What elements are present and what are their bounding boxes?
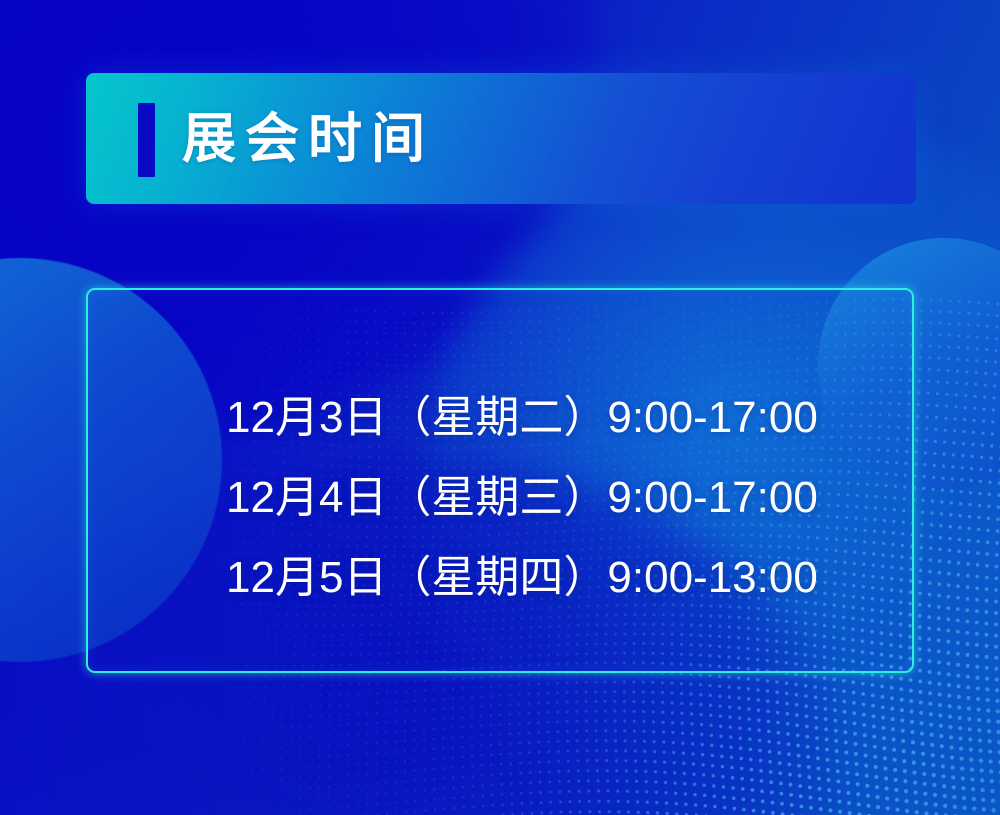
page-title: 展会时间: [182, 112, 434, 166]
schedule-line: 12月3日（星期二）9:00-17:00: [226, 378, 826, 458]
poster-canvas: 展会时间 12月3日（星期二）9:00-17:00 12月4日（星期三）9:00…: [0, 0, 1000, 815]
section-header-banner: 展会时间: [86, 73, 916, 204]
schedule-list: 12月3日（星期二）9:00-17:00 12月4日（星期三）9:00-17:0…: [226, 378, 826, 618]
header-accent-bar: [138, 103, 155, 177]
schedule-line: 12月4日（星期三）9:00-17:00: [226, 458, 826, 538]
schedule-line: 12月5日（星期四）9:00-13:00: [226, 538, 826, 618]
